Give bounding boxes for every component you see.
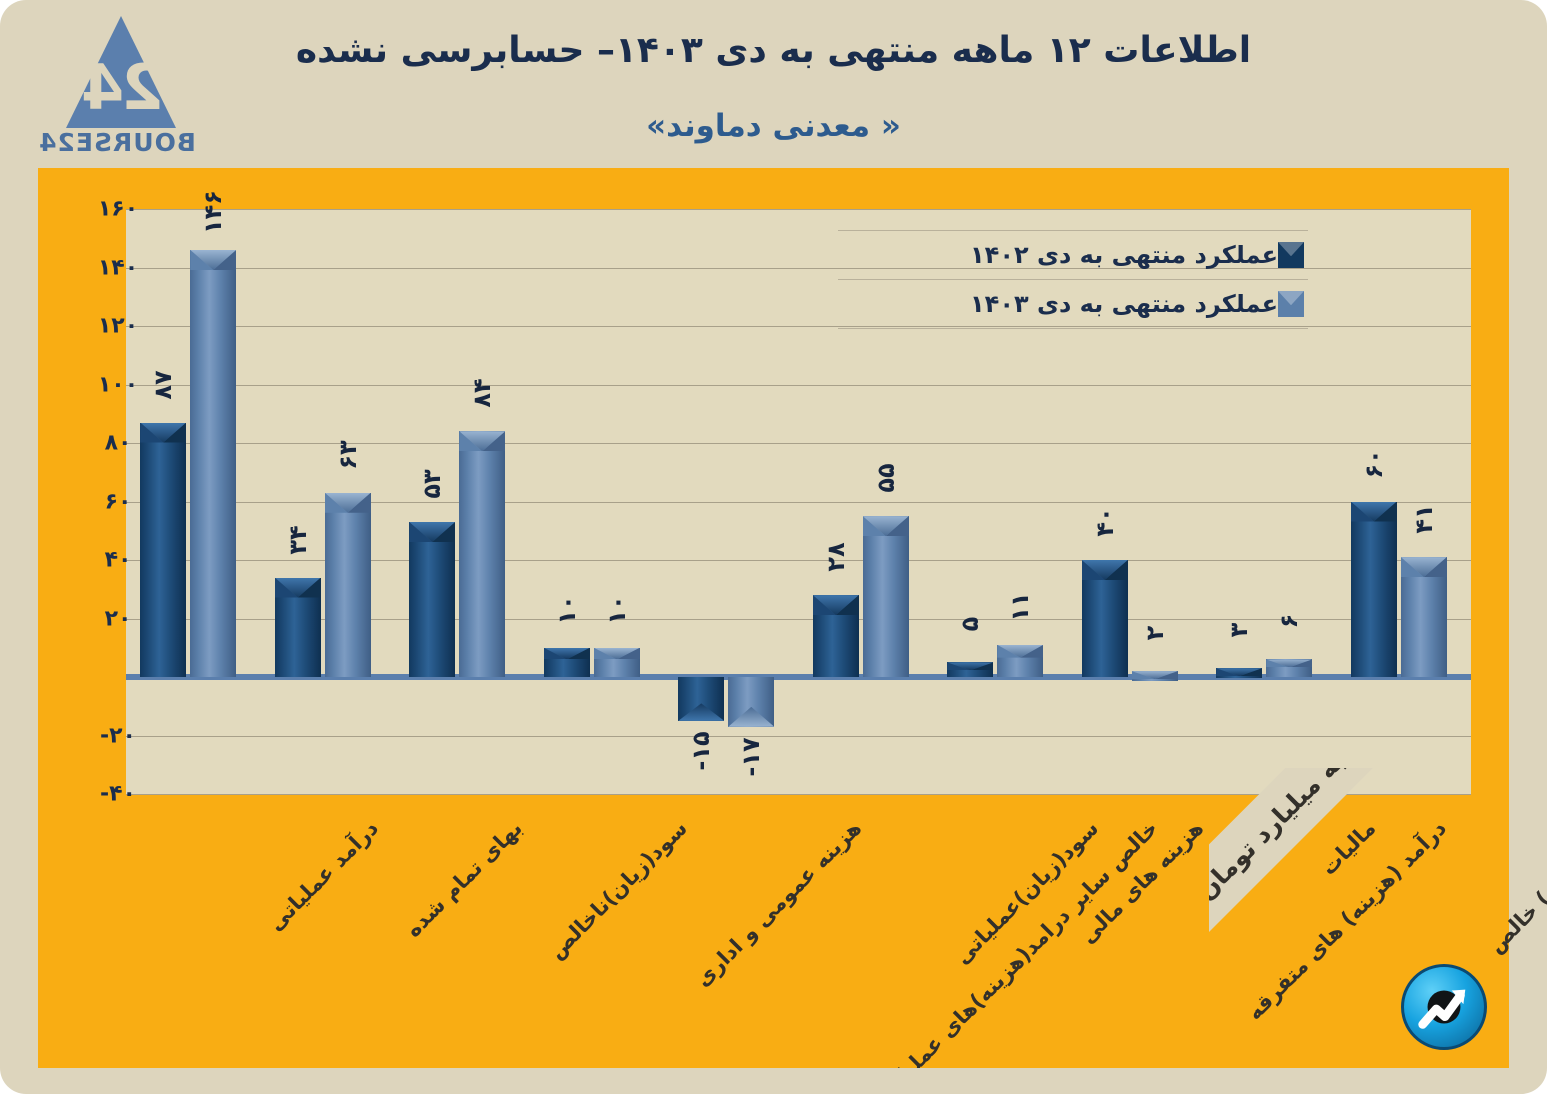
bar-value-label: ۶۳ xyxy=(334,420,362,490)
page-header: 24 BOURSE24 اطلاعات ۱۲ ماهه منتهی به دی … xyxy=(0,0,1547,168)
bar[interactable] xyxy=(728,677,774,727)
bar[interactable] xyxy=(1132,671,1178,681)
bar[interactable] xyxy=(544,648,590,677)
legend-swatch-1402-icon xyxy=(1278,242,1304,268)
gridline xyxy=(126,209,1471,210)
bar[interactable] xyxy=(813,595,859,677)
bar-value-label: ۴۰ xyxy=(1091,487,1119,557)
y-axis-tick-label: ۱۴۰ xyxy=(75,255,161,280)
y-axis-tick-label: ۱۲۰ xyxy=(75,314,161,339)
bar-value-label: ۱۱ xyxy=(1006,572,1034,642)
y-axis-tick-label: ۴۰ xyxy=(75,548,161,573)
bar-value-label: ۲ xyxy=(1141,598,1169,668)
bar-value-label: ۴۱ xyxy=(1410,484,1438,554)
bar[interactable] xyxy=(1266,659,1312,677)
bar[interactable] xyxy=(325,493,371,677)
bar[interactable] xyxy=(1351,502,1397,678)
gridline xyxy=(126,736,1471,737)
footer-strip xyxy=(38,1068,1509,1094)
x-axis-category-label: سود(زیان) خالص xyxy=(1483,816,1547,958)
legend-label-1402: عملکرد منتهی به دی ۱۴۰۲ xyxy=(852,241,1278,269)
legend-item-1403[interactable]: عملکرد منتهی به دی ۱۴۰۳ xyxy=(838,280,1308,329)
bar-value-label: ۱۴۶ xyxy=(199,177,227,247)
gridline xyxy=(126,794,1471,795)
bar[interactable] xyxy=(947,662,993,677)
x-axis-category-label: هزینه عمومی و اداری xyxy=(690,816,865,991)
bar-value-label: ۳ xyxy=(1225,595,1253,665)
bourse24-badge-icon xyxy=(1401,964,1487,1050)
gridline xyxy=(126,443,1471,444)
bar[interactable] xyxy=(190,250,236,677)
bar-value-label: -۱۷ xyxy=(737,722,765,792)
y-axis-tick-label: ۸۰ xyxy=(75,431,161,456)
bar-value-label: ۳۴ xyxy=(284,505,312,575)
chart-page: 24 BOURSE24 اطلاعات ۱۲ ماهه منتهی به دی … xyxy=(0,0,1547,1094)
bar[interactable] xyxy=(863,516,909,677)
bar[interactable] xyxy=(594,648,640,677)
bar[interactable] xyxy=(1401,557,1447,677)
chart-legend: عملکرد منتهی به دی ۱۴۰۲ عملکرد منتهی به … xyxy=(838,230,1308,329)
bar[interactable] xyxy=(275,578,321,677)
bar-value-label: ۱۰ xyxy=(553,575,581,645)
bar-value-label: ۵۵ xyxy=(872,443,900,513)
bar[interactable] xyxy=(459,431,505,677)
bar-value-label: ۱۰ xyxy=(603,575,631,645)
bar-value-label: ۵ xyxy=(956,589,984,659)
legend-item-1402[interactable]: عملکرد منتهی به دی ۱۴۰۲ xyxy=(838,230,1308,280)
y-axis-tick-label: -۲۰ xyxy=(75,723,161,748)
page-subtitle: « معدنی دماوند» xyxy=(0,108,1547,144)
x-axis-category-label: مالیات xyxy=(1317,816,1381,880)
bar[interactable] xyxy=(678,677,724,721)
x-axis-category-label: خالص سایر درامد(هزینه)های عملیاتی xyxy=(872,816,1162,1094)
bar-value-label: ۶ xyxy=(1275,586,1303,656)
y-axis-tick-label: ۱۰۰ xyxy=(75,372,161,397)
page-title: اطلاعات ۱۲ ماهه منتهی به دی ۱۴۰۳– حسابرس… xyxy=(0,30,1547,71)
legend-swatch-1403-icon xyxy=(1278,291,1304,317)
bar[interactable] xyxy=(997,645,1043,677)
x-axis-category-label: سود(زیان)ناخالص xyxy=(544,816,692,964)
bar-value-label: -۱۵ xyxy=(687,716,715,786)
bar-value-label: ۲۸ xyxy=(822,522,850,592)
bar-value-label: ۵۳ xyxy=(418,449,446,519)
legend-label-1403: عملکرد منتهی به دی ۱۴۰۳ xyxy=(852,290,1278,318)
y-axis-tick-label: -۴۰ xyxy=(75,782,161,807)
bar[interactable] xyxy=(1082,560,1128,677)
y-axis-tick-label: ۱۶۰ xyxy=(75,197,161,222)
trend-arrow-icon xyxy=(1413,976,1475,1038)
y-axis-tick-label: ۶۰ xyxy=(75,489,161,514)
bar-value-label: ۸۴ xyxy=(468,358,496,428)
gridline xyxy=(126,385,1471,386)
x-axis-category-label: درآمد عملیاتی xyxy=(264,816,384,936)
bar[interactable] xyxy=(409,522,455,677)
y-axis-tick-label: ۲۰ xyxy=(75,606,161,631)
chart-panel: ۸۷۱۴۶۳۴۶۳۵۳۸۴۱۰۱۰-۱۵-۱۷۲۸۵۵۵۱۱۴۰۲۳۶۶۰۴۱ … xyxy=(38,168,1509,1068)
bar-value-label: ۶۰ xyxy=(1360,429,1388,499)
bar[interactable] xyxy=(1216,668,1262,678)
x-axis-category-label: بهای تمام شده xyxy=(401,816,527,942)
